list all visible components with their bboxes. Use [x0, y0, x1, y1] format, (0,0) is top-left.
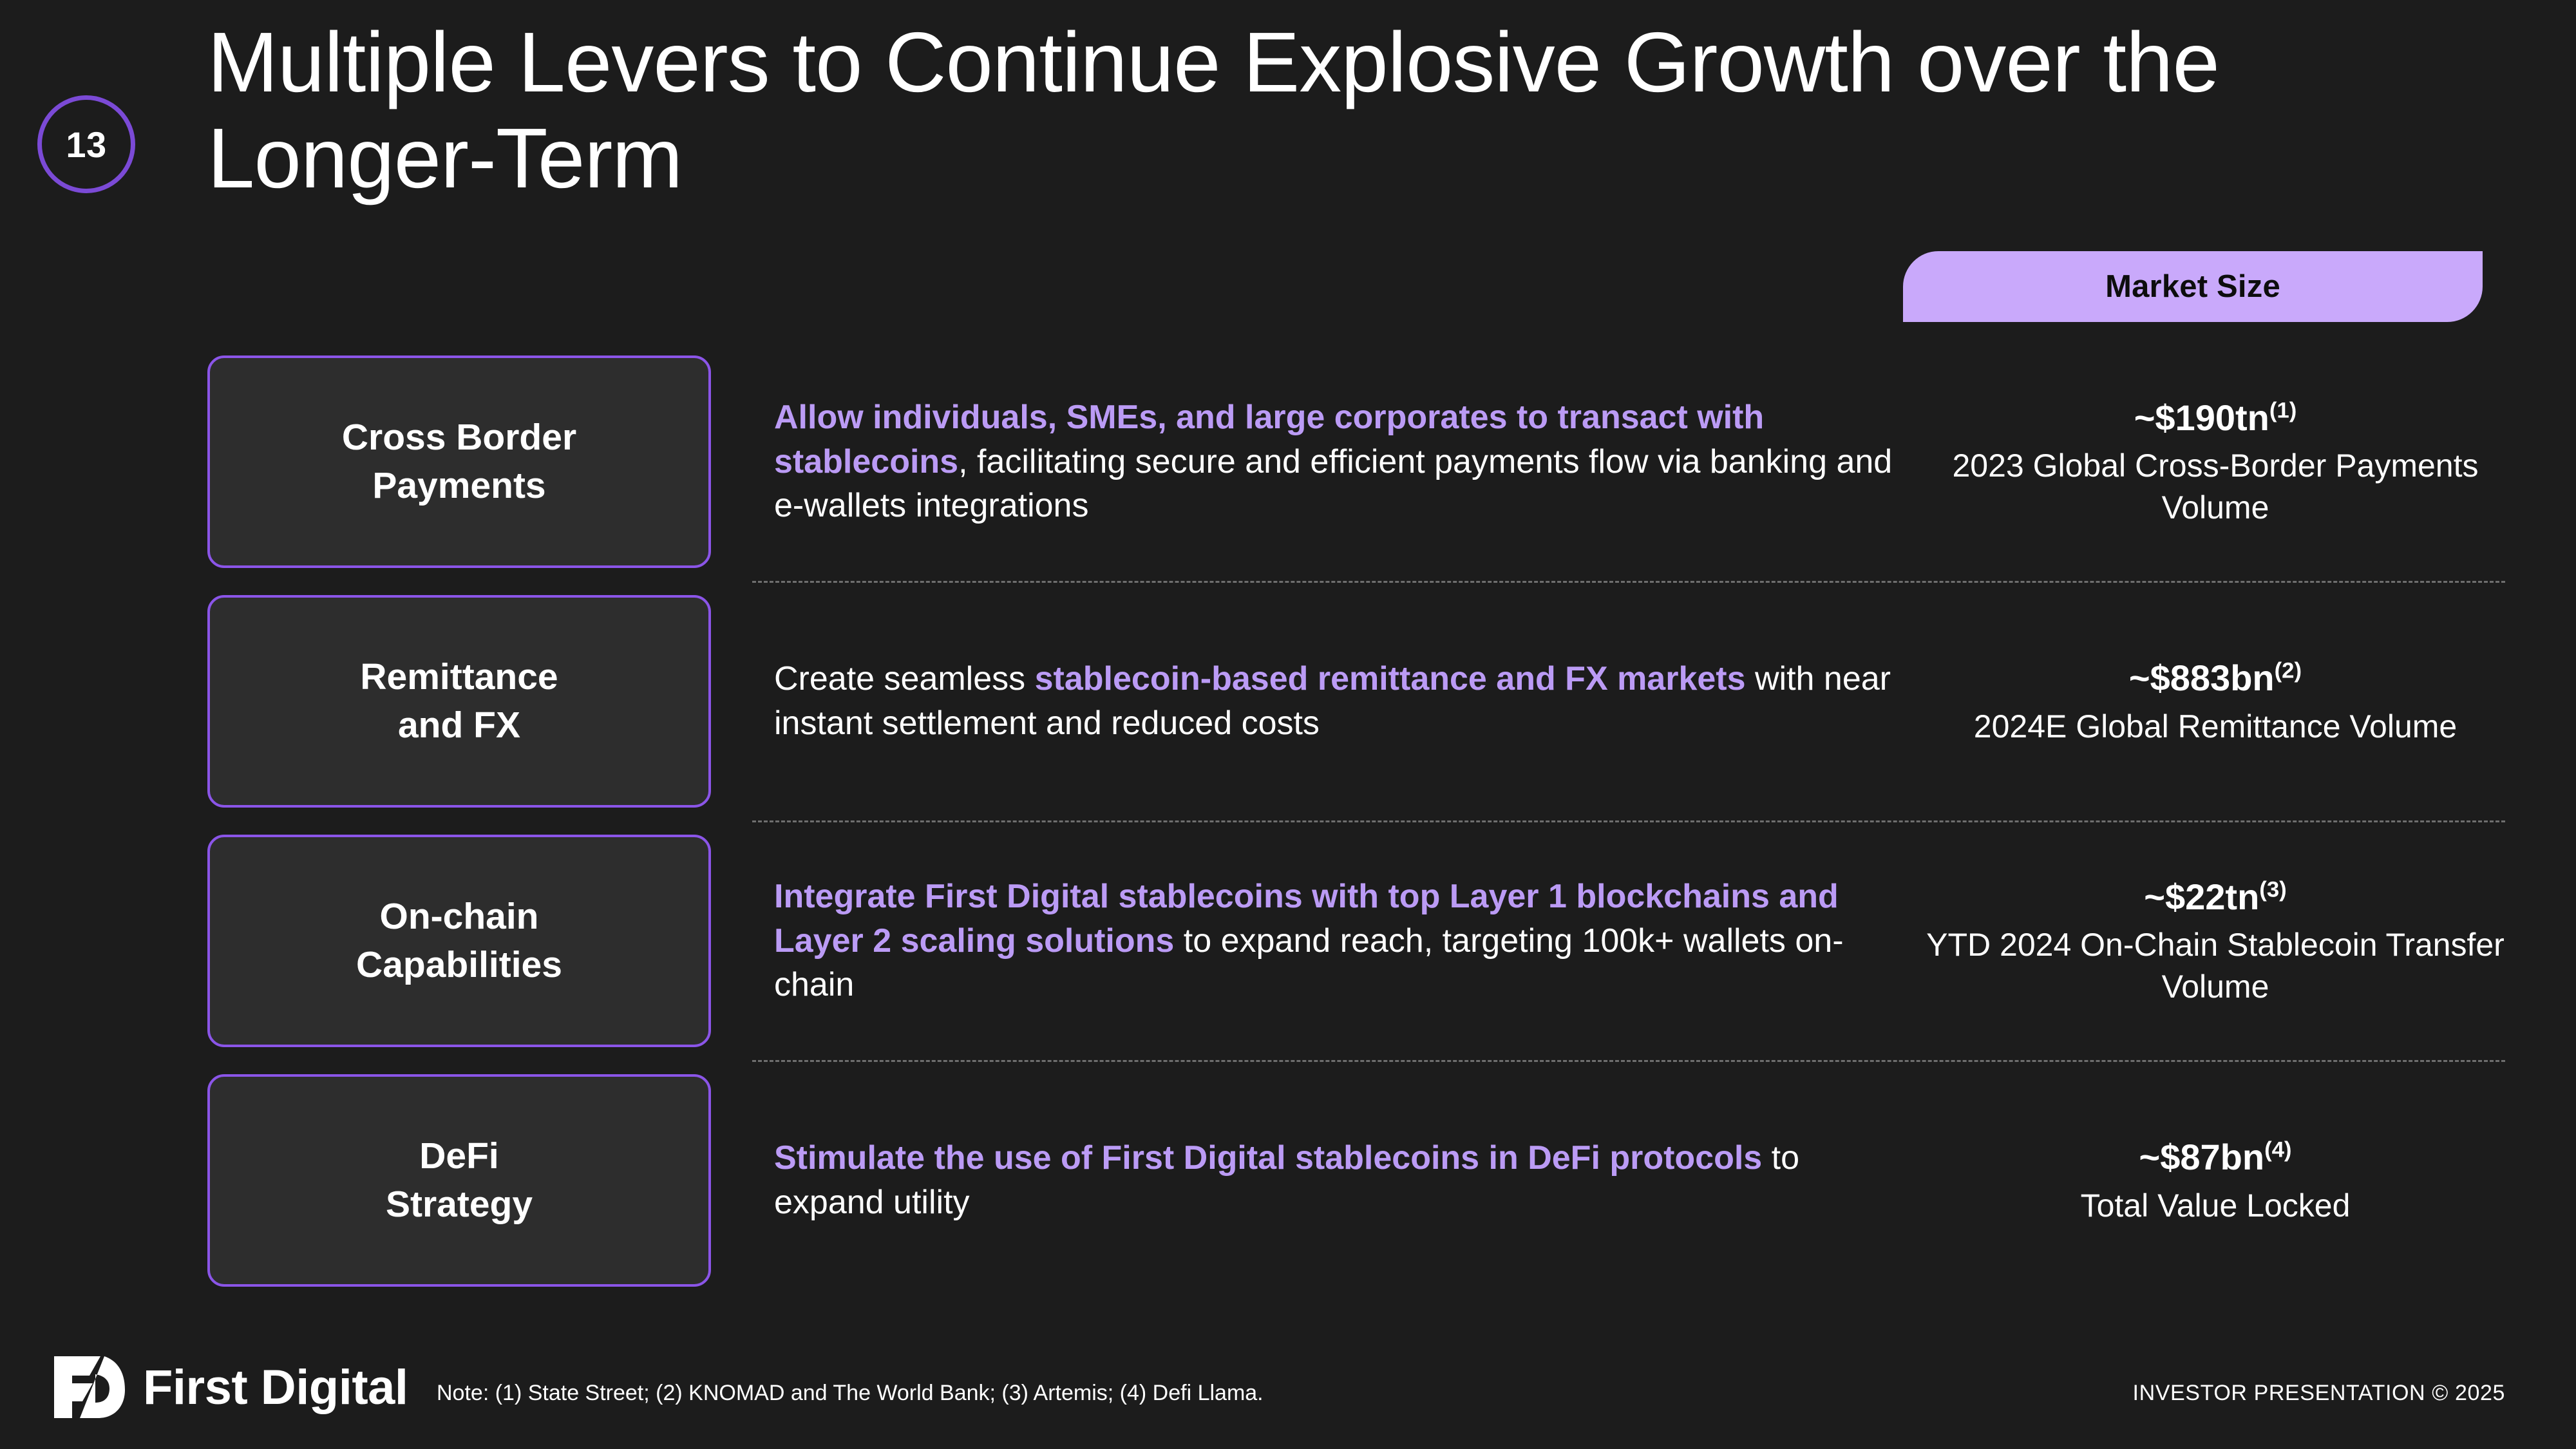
market-size-label: 2023 Global Cross-Border Payments Volume: [1926, 445, 2505, 529]
lever-row-inner: Remittance and FXCreate seamless stablec…: [0, 595, 2576, 808]
market-size-label: YTD 2024 On-Chain Stablecoin Transfer Vo…: [1926, 924, 2505, 1008]
page-number-label: 13: [66, 124, 106, 166]
lever-row: DeFi StrategyStimulate the use of First …: [0, 1074, 2576, 1287]
slide-root: 13 Multiple Levers to Continue Explosive…: [0, 0, 2576, 1449]
lever-category-label: On-chain Capabilities: [356, 893, 562, 989]
market-size-cell: ~$87bn(4)Total Value Locked: [1926, 1134, 2505, 1227]
market-size-value-text: ~$22tn: [2144, 876, 2259, 917]
lever-category-label: Remittance and FX: [360, 653, 558, 750]
footnote-text: Note: (1) State Street; (2) KNOMAD and T…: [437, 1381, 1264, 1406]
market-size-footnote-marker: (4): [2264, 1137, 2291, 1162]
copyright-text: INVESTOR PRESENTATION © 2025: [2133, 1381, 2505, 1406]
market-size-value-text: ~$87bn: [2139, 1137, 2265, 1177]
lever-category-box[interactable]: DeFi Strategy: [207, 1074, 711, 1287]
levers-list: Cross Border PaymentsAllow individuals, …: [0, 355, 2576, 1287]
market-size-value: ~$190tn(1): [1926, 395, 2505, 442]
market-size-cell: ~$883bn(2)2024E Global Remittance Volume: [1926, 655, 2505, 748]
market-size-label: 2024E Global Remittance Volume: [1926, 706, 2505, 748]
market-size-footnote-marker: (2): [2275, 658, 2302, 683]
market-size-footnote-marker: (3): [2259, 877, 2286, 902]
row-divider: [752, 1060, 2505, 1062]
page-title: Multiple Levers to Continue Explosive Gr…: [207, 14, 2500, 206]
market-size-cell: ~$190tn(1)2023 Global Cross-Border Payme…: [1926, 395, 2505, 529]
lever-row: On-chain CapabilitiesIntegrate First Dig…: [0, 835, 2576, 1047]
market-size-banner-label: Market Size: [2105, 269, 2280, 305]
brand-logo-text: First Digital: [143, 1359, 408, 1416]
lever-row-inner: Cross Border PaymentsAllow individuals, …: [0, 355, 2576, 568]
market-size-value-text: ~$883bn: [2129, 658, 2275, 698]
market-size-value: ~$22tn(3): [1926, 874, 2505, 921]
row-divider: [752, 581, 2505, 583]
lever-description: Stimulate the use of First Digital stabl…: [711, 1136, 1926, 1224]
lever-description: Integrate First Digital stablecoins with…: [711, 875, 1926, 1007]
lever-category-label: Cross Border Payments: [342, 413, 576, 510]
market-size-banner: Market Size: [1903, 251, 2483, 322]
row-divider: [752, 820, 2505, 822]
slide-footer: First Digital Note: (1) State Street; (2…: [0, 1333, 2576, 1449]
page-number-badge: 13: [37, 95, 135, 193]
lever-row: Cross Border PaymentsAllow individuals, …: [0, 355, 2576, 568]
market-size-value-text: ~$190tn: [2134, 397, 2269, 438]
brand-logo: First Digital: [50, 1354, 408, 1421]
lever-category-box[interactable]: Remittance and FX: [207, 595, 711, 808]
lever-row-inner: DeFi StrategyStimulate the use of First …: [0, 1074, 2576, 1287]
market-size-value: ~$87bn(4): [1926, 1134, 2505, 1181]
lever-category-box[interactable]: Cross Border Payments: [207, 355, 711, 568]
lever-description: Allow individuals, SMEs, and large corpo…: [711, 395, 1926, 528]
first-digital-fd-monogram-icon: [50, 1354, 126, 1421]
lever-category-label: DeFi Strategy: [386, 1132, 533, 1229]
market-size-label: Total Value Locked: [1926, 1185, 2505, 1227]
lever-category-box[interactable]: On-chain Capabilities: [207, 835, 711, 1047]
lever-row-inner: On-chain CapabilitiesIntegrate First Dig…: [0, 835, 2576, 1047]
lever-row: Remittance and FXCreate seamless stablec…: [0, 595, 2576, 808]
market-size-footnote-marker: (1): [2269, 398, 2297, 422]
market-size-cell: ~$22tn(3)YTD 2024 On-Chain Stablecoin Tr…: [1926, 874, 2505, 1009]
lever-description: Create seamless stablecoin-based remitta…: [711, 657, 1926, 745]
market-size-value: ~$883bn(2): [1926, 655, 2505, 702]
